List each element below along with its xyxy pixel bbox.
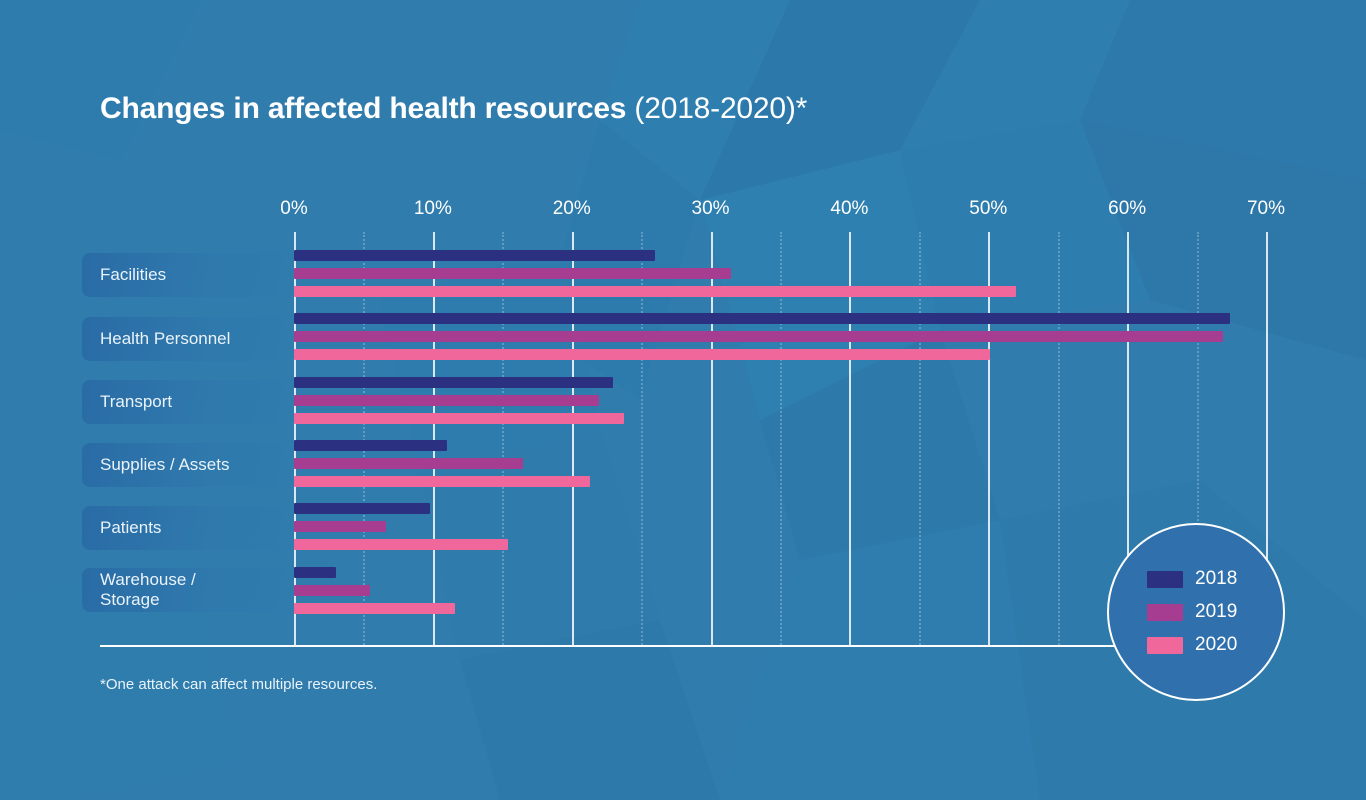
bar-2020-supplies-assets bbox=[294, 476, 590, 487]
category-label: Warehouse / Storage bbox=[100, 570, 196, 609]
x-axis-tick-labels: 0%10%20%30%40%50%60%70% bbox=[294, 198, 1266, 224]
title-strong: Changes in affected health resources bbox=[100, 92, 626, 125]
legend-swatch-2019 bbox=[1147, 604, 1183, 621]
x-tick-label-70: 70% bbox=[1247, 198, 1285, 220]
category-pill-transport: Transport bbox=[82, 380, 294, 424]
category-pill-supplies-assets: Supplies / Assets bbox=[82, 443, 294, 487]
legend-swatch-2020 bbox=[1147, 637, 1183, 654]
x-tick-label-30: 30% bbox=[692, 198, 730, 220]
bar-2019-patients bbox=[294, 521, 386, 532]
bar-2018-facilities bbox=[294, 250, 655, 261]
infographic-canvas: Changes in affected health resources (20… bbox=[0, 0, 1366, 800]
bar-group-supplies-assets bbox=[294, 440, 1266, 486]
category-label: Supplies / Assets bbox=[100, 455, 229, 475]
x-tick-label-0: 0% bbox=[280, 198, 307, 220]
bar-group-health-personnel bbox=[294, 313, 1266, 359]
category-pill-warehouse-storage: Warehouse / Storage bbox=[82, 568, 294, 612]
legend-swatch-2018 bbox=[1147, 571, 1183, 588]
bar-2020-patients bbox=[294, 539, 508, 550]
bar-2020-transport bbox=[294, 413, 624, 424]
bar-2018-supplies-assets bbox=[294, 440, 447, 451]
bar-2019-health-personnel bbox=[294, 331, 1223, 342]
x-tick-label-40: 40% bbox=[830, 198, 868, 220]
bar-group-patients bbox=[294, 503, 1266, 549]
category-pill-patients: Patients bbox=[82, 506, 294, 550]
footnote: *One attack can affect multiple resource… bbox=[100, 676, 377, 693]
bar-2020-facilities bbox=[294, 286, 1016, 297]
legend-label: 2020 bbox=[1195, 634, 1237, 656]
legend-item-2019[interactable]: 2019 bbox=[1147, 601, 1237, 623]
x-tick-label-20: 20% bbox=[553, 198, 591, 220]
category-pill-health-personnel: Health Personnel bbox=[82, 317, 294, 361]
bar-2019-warehouse-storage bbox=[294, 585, 370, 596]
category-label: Facilities bbox=[100, 265, 166, 285]
x-tick-label-10: 10% bbox=[414, 198, 452, 220]
legend-label: 2019 bbox=[1195, 601, 1237, 623]
bar-2018-warehouse-storage bbox=[294, 567, 336, 578]
x-tick-label-50: 50% bbox=[969, 198, 1007, 220]
bar-2018-patients bbox=[294, 503, 430, 514]
category-label: Health Personnel bbox=[100, 329, 230, 349]
page-title: Changes in affected health resources (20… bbox=[100, 92, 807, 126]
bar-2020-warehouse-storage bbox=[294, 603, 455, 614]
bar-2020-health-personnel bbox=[294, 349, 990, 360]
bar-group-facilities bbox=[294, 250, 1266, 296]
title-light: (2018-2020)* bbox=[626, 92, 807, 125]
bar-2018-health-personnel bbox=[294, 313, 1230, 324]
bar-2019-supplies-assets bbox=[294, 458, 523, 469]
legend-item-2018[interactable]: 2018 bbox=[1147, 568, 1237, 590]
legend: 201820192020 bbox=[1107, 523, 1285, 701]
legend-label: 2018 bbox=[1195, 568, 1237, 590]
bar-2019-transport bbox=[294, 395, 599, 406]
x-tick-label-60: 60% bbox=[1108, 198, 1146, 220]
category-label: Patients bbox=[100, 518, 161, 538]
category-label: Transport bbox=[100, 392, 172, 412]
category-pill-facilities: Facilities bbox=[82, 253, 294, 297]
bar-2019-facilities bbox=[294, 268, 731, 279]
bar-2018-transport bbox=[294, 377, 613, 388]
axis-baseline bbox=[100, 645, 1266, 647]
legend-item-2020[interactable]: 2020 bbox=[1147, 634, 1237, 656]
bar-group-transport bbox=[294, 377, 1266, 423]
